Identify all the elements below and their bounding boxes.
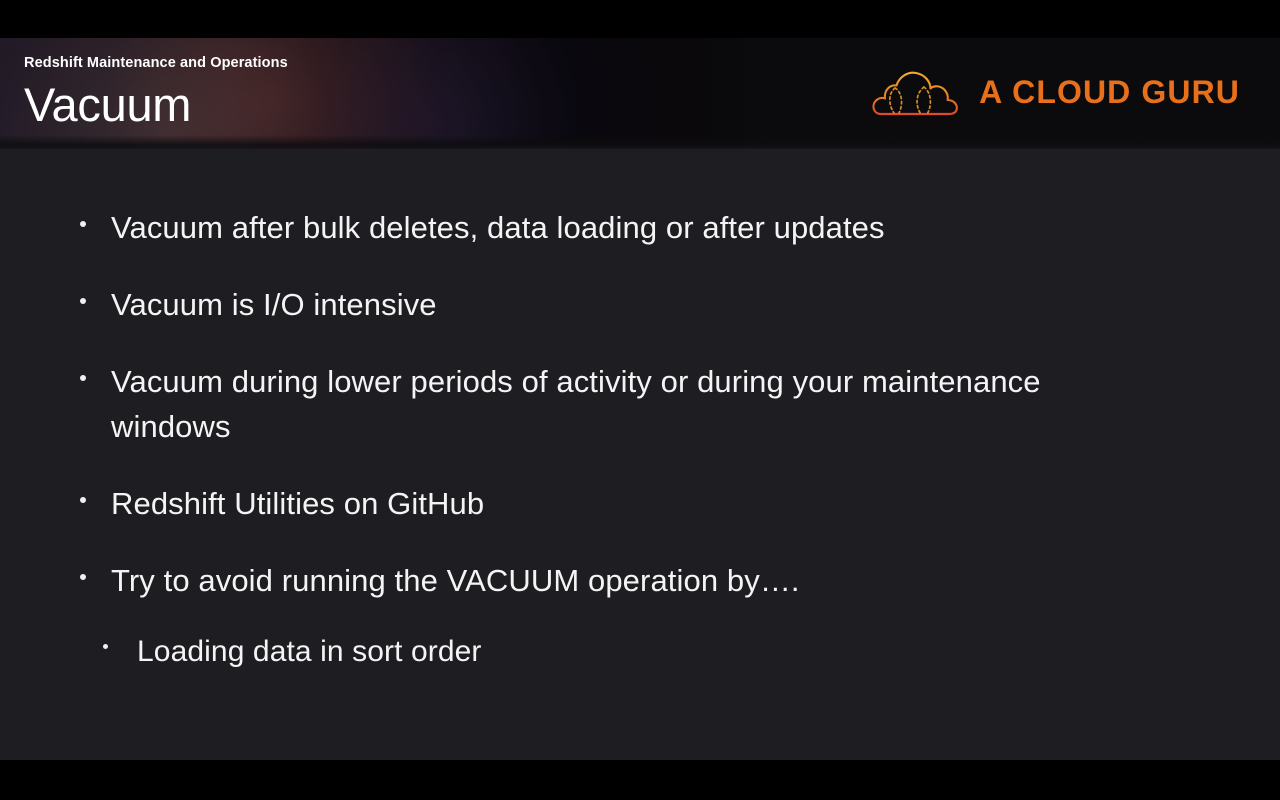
list-item-sub: Loading data in sort order: [0, 629, 1280, 674]
slide-stage: Redshift Maintenance and Operations Vacu…: [0, 38, 1280, 760]
list-item: Redshift Utilities on GitHub: [0, 481, 1280, 526]
bullet-dot-icon: [80, 221, 86, 227]
bullet-dot-icon: [80, 497, 86, 503]
letterbox-bar-bottom: [0, 760, 1280, 800]
bullet-text: Vacuum is I/O intensive: [111, 282, 437, 327]
list-item: Try to avoid running the VACUUM operatio…: [0, 558, 1280, 603]
bullet-dot-icon: [80, 298, 86, 304]
slide-bullet-list: Vacuum after bulk deletes, data loading …: [0, 149, 1280, 706]
bullet-text: Vacuum after bulk deletes, data loading …: [111, 205, 885, 250]
bullet-text: Loading data in sort order: [137, 629, 482, 674]
cloud-outline-icon: [869, 64, 961, 122]
letterbox-bar-top: [0, 0, 1280, 38]
list-item: Vacuum during lower periods of activity …: [0, 359, 1280, 449]
presentation-slide: Redshift Maintenance and Operations Vacu…: [0, 0, 1280, 800]
page-title: Vacuum: [24, 81, 191, 128]
list-item: Vacuum is I/O intensive: [0, 282, 1280, 327]
bullet-text: Try to avoid running the VACUUM operatio…: [111, 558, 800, 603]
bullet-dot-icon: [103, 644, 108, 649]
brand-logo: A CLOUD GURU: [869, 57, 1240, 129]
bullet-dot-icon: [80, 375, 86, 381]
list-item: Vacuum after bulk deletes, data loading …: [0, 205, 1280, 250]
brand-wordmark: A CLOUD GURU: [979, 76, 1240, 110]
slide-eyebrow-text: Redshift Maintenance and Operations: [24, 55, 288, 71]
bullet-text: Redshift Utilities on GitHub: [111, 481, 484, 526]
bullet-dot-icon: [80, 574, 86, 580]
slide-header-band: Redshift Maintenance and Operations Vacu…: [0, 38, 1280, 149]
header-bottom-fade: [0, 135, 1280, 149]
bullet-text: Vacuum during lower periods of activity …: [111, 359, 1041, 449]
